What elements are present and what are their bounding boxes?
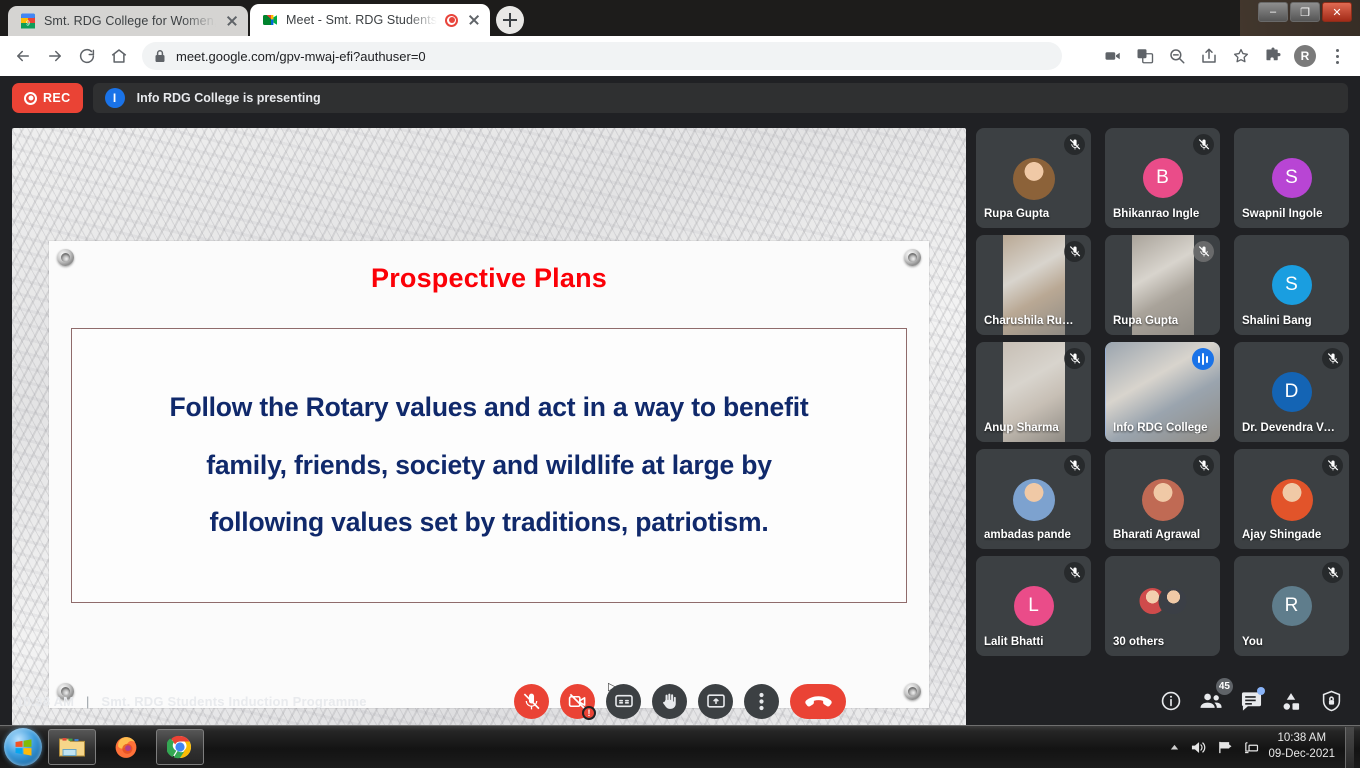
microphone-off-button[interactable] xyxy=(514,684,549,719)
chat-icon[interactable] xyxy=(1238,688,1264,714)
participant-name: Info RDG College xyxy=(1113,422,1212,434)
participant-tile[interactable]: DDr. Devendra Vyas xyxy=(1234,342,1349,442)
participant-name: Swapnil Ingole xyxy=(1242,208,1341,220)
meeting-time: 10:38 AM xyxy=(16,694,74,709)
captions-button[interactable] xyxy=(606,684,641,719)
participant-avatar-initial: S xyxy=(1272,158,1312,198)
presenter-avatar: I xyxy=(105,88,125,108)
slide-title: Prospective Plans xyxy=(49,263,929,294)
microphone-muted-icon xyxy=(1064,134,1085,155)
participant-count-badge: 45 xyxy=(1216,678,1233,695)
new-tab-button[interactable] xyxy=(496,6,524,34)
participant-avatar-photo xyxy=(1013,479,1055,521)
microphone-muted-icon xyxy=(1064,241,1085,262)
meeting-info-separator: | xyxy=(86,694,90,709)
participant-name: Anup Sharma xyxy=(984,422,1083,434)
present-now-button[interactable] xyxy=(698,684,733,719)
participant-rail: Rupa GuptaBBhikanrao IngleSSwapnil Ingol… xyxy=(976,128,1350,741)
participant-tile[interactable]: Charushila Rumale xyxy=(976,235,1091,335)
camera-off-button[interactable]: ! xyxy=(560,684,595,719)
participant-tile[interactable]: Anup Sharma xyxy=(976,342,1091,442)
google-sheets-icon: 9 xyxy=(20,13,36,29)
meeting-info: 10:38 AM | Smt. RDG Students Induction P… xyxy=(16,694,367,709)
show-hidden-icons-arrow[interactable] xyxy=(1169,742,1180,753)
kebab-icon xyxy=(1327,49,1347,64)
participant-name: Lalit Bhatti xyxy=(984,636,1083,648)
browser-tab-1[interactable]: Meet - Smt. RDG Students In xyxy=(250,4,490,36)
lock-icon xyxy=(154,49,166,63)
participant-name: Shalini Bang xyxy=(1242,315,1341,327)
participant-tile[interactable]: Info RDG College xyxy=(1105,342,1220,442)
maximize-button[interactable]: ❐ xyxy=(1290,2,1320,22)
meet-header: REC I Info RDG College is presenting xyxy=(0,76,1360,120)
participant-tile[interactable]: Rupa Gupta xyxy=(976,128,1091,228)
chrome-menu-button[interactable] xyxy=(1322,41,1352,71)
participant-name: Ajay Shingade xyxy=(1242,529,1341,541)
camera-icon[interactable] xyxy=(1098,41,1128,71)
participant-tile[interactable]: Bharati Agrawal xyxy=(1105,449,1220,549)
network-icon[interactable] xyxy=(1243,740,1259,755)
reload-icon[interactable] xyxy=(72,41,102,71)
participant-tile[interactable]: BBhikanrao Ingle xyxy=(1105,128,1220,228)
minimize-button[interactable]: – xyxy=(1258,2,1288,22)
microphone-muted-icon xyxy=(1064,348,1085,369)
microphone-muted-icon xyxy=(1193,134,1214,155)
participant-name: Bharati Agrawal xyxy=(1113,529,1212,541)
share-icon[interactable] xyxy=(1194,41,1224,71)
participant-avatar-initial: R xyxy=(1272,586,1312,626)
recording-badge[interactable]: REC xyxy=(12,83,83,113)
slide-body-line: following values set by traditions, patr… xyxy=(90,509,888,537)
system-tray: 10:38 AM 09-Dec-2021 xyxy=(1169,727,1360,768)
participant-name: Dr. Devendra Vyas xyxy=(1242,422,1341,434)
translate-icon[interactable] xyxy=(1130,41,1160,71)
participant-name: You xyxy=(1242,636,1341,648)
raise-hand-button[interactable] xyxy=(652,684,687,719)
browser-toolbar-actions: R xyxy=(1098,41,1352,71)
microphone-muted-icon xyxy=(1064,562,1085,583)
more-options-button[interactable] xyxy=(744,684,779,719)
participant-avatar-initial: B xyxy=(1143,158,1183,198)
svg-text:9: 9 xyxy=(26,21,30,28)
windows-start-orb[interactable] xyxy=(4,728,42,766)
activities-icon[interactable] xyxy=(1278,688,1304,714)
close-icon[interactable] xyxy=(224,13,240,29)
participant-name: ambadas pande xyxy=(984,529,1083,541)
participant-avatar-initial: D xyxy=(1272,372,1312,412)
file-explorer-icon[interactable] xyxy=(48,729,96,765)
profile-avatar[interactable]: R xyxy=(1294,45,1316,67)
browser-tab-1-title: Meet - Smt. RDG Students In xyxy=(286,13,437,27)
browser-tab-0[interactable]: 9 Smt. RDG College for Women, Ak xyxy=(8,6,248,36)
back-arrow-icon[interactable] xyxy=(8,41,38,71)
participant-name: 30 others xyxy=(1113,636,1212,648)
meet-controls: ! xyxy=(514,684,846,719)
record-dot-icon xyxy=(24,92,37,105)
participant-tile[interactable]: Ajay Shingade xyxy=(1234,449,1349,549)
tab-recording-indicator-icon[interactable] xyxy=(445,14,458,27)
address-bar[interactable]: meet.google.com/gpv-mwaj-efi?authuser=0 xyxy=(142,42,1062,70)
participant-tile[interactable]: RYou xyxy=(1234,556,1349,656)
slide-body-line: Follow the Rotary values and act in a wa… xyxy=(90,394,888,422)
windows-taskbar: 10:38 AM 09-Dec-2021 xyxy=(0,725,1360,768)
participant-tile[interactable]: 30 others xyxy=(1105,556,1220,656)
leave-call-button[interactable] xyxy=(790,684,846,719)
taskbar-clock[interactable]: 10:38 AM 09-Dec-2021 xyxy=(1269,731,1335,762)
home-icon[interactable] xyxy=(104,41,134,71)
google-meet-app: REC I Info RDG College is presenting Pro… xyxy=(0,76,1360,725)
participant-tile[interactable]: SShalini Bang xyxy=(1234,235,1349,335)
presentation-stage[interactable]: Prospective Plans Follow the Rotary valu… xyxy=(12,128,966,741)
participant-avatar-photo xyxy=(1142,479,1184,521)
taskbar-clock-date: 09-Dec-2021 xyxy=(1269,747,1335,763)
microphone-muted-icon xyxy=(1193,241,1214,262)
bookmark-star-icon[interactable] xyxy=(1226,41,1256,71)
participant-tile[interactable]: Rupa Gupta xyxy=(1105,235,1220,335)
participant-name: Rupa Gupta xyxy=(1113,315,1212,327)
participant-avatar-initial: L xyxy=(1014,586,1054,626)
participant-tile[interactable]: LLalit Bhatti xyxy=(976,556,1091,656)
chrome-icon[interactable] xyxy=(156,729,204,765)
microphone-muted-icon xyxy=(1064,455,1085,476)
microphone-muted-icon xyxy=(1193,455,1214,476)
participant-tile[interactable]: SSwapnil Ingole xyxy=(1234,128,1349,228)
participant-avatar-initial: S xyxy=(1272,265,1312,305)
speaking-indicator-icon xyxy=(1192,348,1214,370)
window-controls: – ❐ ✕ xyxy=(1258,2,1352,22)
show-desktop-button[interactable] xyxy=(1345,727,1354,768)
participant-avatar-photo xyxy=(1013,158,1055,200)
slide-body-line: family, friends, society and wildlife at… xyxy=(90,452,888,480)
address-bar-url: meet.google.com/gpv-mwaj-efi?authuser=0 xyxy=(176,49,426,64)
google-meet-icon xyxy=(262,12,278,28)
recording-badge-label: REC xyxy=(43,91,71,105)
browser-tab-0-title: Smt. RDG College for Women, Ak xyxy=(44,14,216,28)
participant-tile[interactable]: ambadas pande xyxy=(976,449,1091,549)
flag-action-center-icon[interactable] xyxy=(1217,740,1233,755)
participant-name: Charushila Rumale xyxy=(984,315,1083,327)
firefox-icon[interactable] xyxy=(102,729,150,765)
taskbar-clock-time: 10:38 AM xyxy=(1269,731,1335,747)
people-icon[interactable]: 45 xyxy=(1198,688,1224,714)
close-window-button[interactable]: ✕ xyxy=(1322,2,1352,22)
chrome-browser-window: 9 Smt. RDG College for Women, Ak Meet - … xyxy=(0,0,1360,725)
microphone-muted-icon xyxy=(1322,562,1343,583)
meeting-name: Smt. RDG Students Induction Programme xyxy=(101,694,366,709)
plus-icon xyxy=(503,13,517,27)
participant-avatar-photo xyxy=(1271,479,1313,521)
presenting-notification-bar: I Info RDG College is presenting xyxy=(93,83,1348,113)
volume-icon[interactable] xyxy=(1190,740,1207,755)
participant-name: Rupa Gupta xyxy=(984,208,1083,220)
browser-toolbar: meet.google.com/gpv-mwaj-efi?authuser=0 … xyxy=(0,36,1360,76)
extensions-puzzle-icon[interactable] xyxy=(1258,41,1288,71)
host-controls-icon[interactable] xyxy=(1318,688,1344,714)
microphone-muted-icon xyxy=(1322,348,1343,369)
presenting-notice-text: Info RDG College is presenting xyxy=(137,91,321,105)
browser-tab-strip: 9 Smt. RDG College for Women, Ak Meet - … xyxy=(0,0,1360,36)
zoom-out-icon[interactable] xyxy=(1162,41,1192,71)
others-avatar-group xyxy=(1137,586,1188,616)
meet-bottom-bar: 10:38 AM | Smt. RDG Students Induction P… xyxy=(0,677,1360,725)
presentation-slide: Prospective Plans Follow the Rotary valu… xyxy=(49,241,929,708)
forward-arrow-icon[interactable] xyxy=(40,41,70,71)
camera-warning-badge: ! xyxy=(582,706,596,720)
participant-name: Bhikanrao Ingle xyxy=(1113,208,1212,220)
meeting-details-icon[interactable] xyxy=(1158,688,1184,714)
chat-unread-dot xyxy=(1257,687,1265,695)
slide-text-box: Follow the Rotary values and act in a wa… xyxy=(71,328,907,603)
close-icon[interactable] xyxy=(466,12,482,28)
meet-right-actions: 45 xyxy=(1158,688,1344,714)
microphone-muted-icon xyxy=(1322,455,1343,476)
